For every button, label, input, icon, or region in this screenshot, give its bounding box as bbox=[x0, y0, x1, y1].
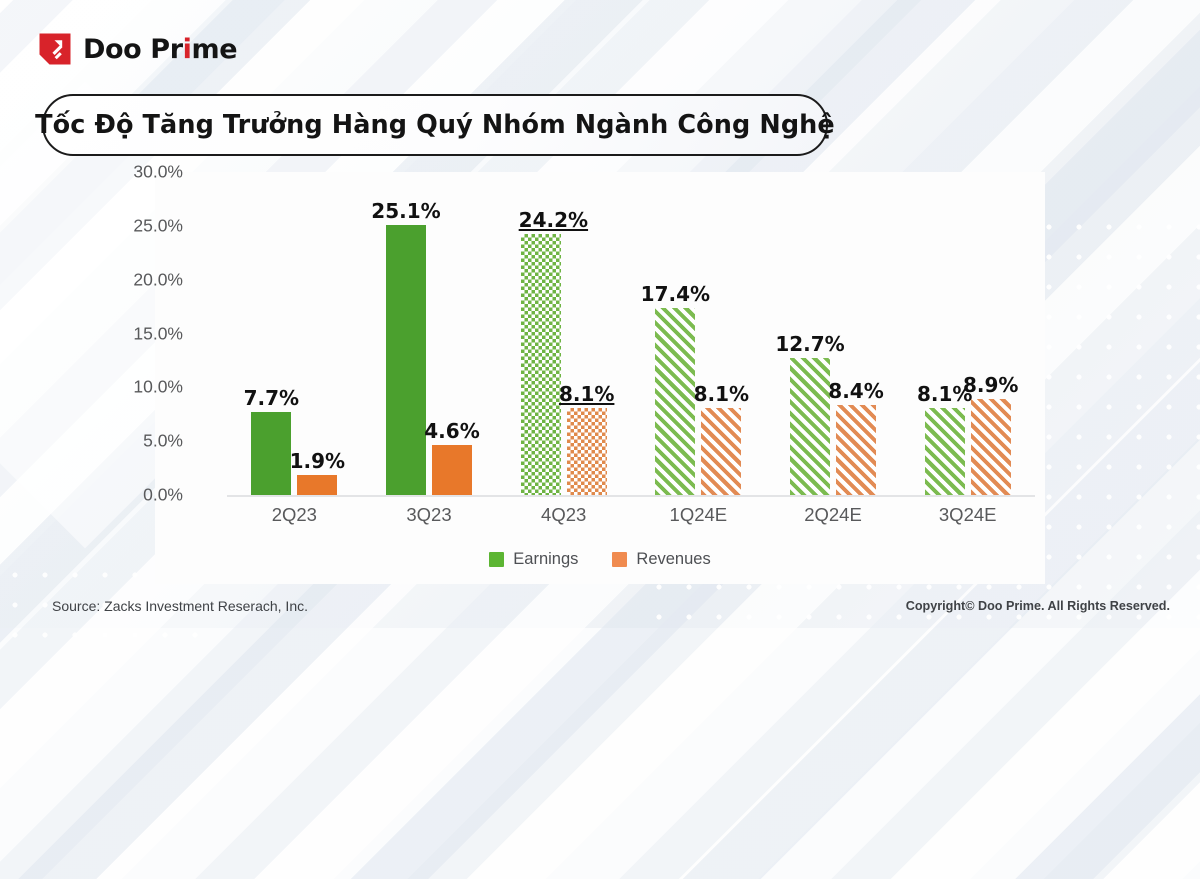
bar-column-earnings[interactable]: 8.1% bbox=[925, 172, 965, 495]
bar[interactable]: 24.2% bbox=[521, 234, 561, 495]
bar-value-label: 8.4% bbox=[828, 381, 883, 402]
bar-column-earnings[interactable]: 7.7% bbox=[251, 172, 291, 495]
bar[interactable]: 25.1% bbox=[386, 225, 426, 495]
brand-logo: Doo Prime bbox=[38, 32, 237, 66]
bar-value-label: 25.1% bbox=[371, 201, 440, 222]
axis-baseline bbox=[227, 495, 1035, 497]
bar-group: 12.7%8.4% bbox=[766, 172, 901, 495]
bar-group: 24.2%8.1% bbox=[496, 172, 631, 495]
chart-panel: 30.0%25.0%20.0%15.0%10.0%5.0%0.0% 7.7%1.… bbox=[155, 172, 1045, 584]
bar[interactable]: 4.6% bbox=[432, 445, 472, 495]
bar[interactable]: 8.1% bbox=[567, 408, 607, 495]
legend-item-revenues[interactable]: Revenues bbox=[612, 550, 710, 569]
bar-value-label: 24.2% bbox=[519, 210, 563, 231]
y-axis-tick-label: 20.0% bbox=[63, 269, 183, 290]
bar-column-revenues[interactable]: 4.6% bbox=[432, 172, 472, 495]
source-note: Source: Zacks Investment Reserach, Inc. bbox=[52, 598, 308, 614]
copyright-note: Copyright© Doo Prime. All Rights Reserve… bbox=[906, 599, 1170, 613]
bar-column-revenues[interactable]: 1.9% bbox=[297, 172, 337, 495]
x-axis-tick-label: 2Q23 bbox=[227, 504, 362, 526]
bar-groups: 7.7%1.9%25.1%4.6%24.2%8.1%17.4%8.1%12.7%… bbox=[227, 172, 1035, 495]
legend-label: Revenues bbox=[636, 550, 710, 569]
y-axis-tick-label: 15.0% bbox=[63, 323, 183, 344]
y-axis-tick-label: 10.0% bbox=[63, 377, 183, 398]
chart-legend: EarningsRevenues bbox=[155, 550, 1045, 569]
brand-name: Doo Prime bbox=[83, 34, 237, 65]
bar-value-label: 8.1% bbox=[694, 384, 749, 405]
y-axis-tick-label: 25.0% bbox=[63, 215, 183, 236]
brand-name-part1: Doo Pr bbox=[83, 34, 183, 65]
bar[interactable]: 8.1% bbox=[701, 408, 741, 495]
bar-column-earnings[interactable]: 24.2% bbox=[521, 172, 561, 495]
bar-column-revenues[interactable]: 8.9% bbox=[971, 172, 1011, 495]
title-pill: Tốc Độ Tăng Trưởng Hàng Quý Nhóm Ngành C… bbox=[42, 94, 828, 156]
bar[interactable]: 8.9% bbox=[971, 399, 1011, 495]
bar[interactable]: 7.7% bbox=[251, 412, 291, 495]
x-axis-tick-label: 3Q23 bbox=[362, 504, 497, 526]
bar-value-label: 1.9% bbox=[290, 451, 345, 472]
legend-swatch-icon bbox=[612, 552, 627, 567]
bar-column-revenues[interactable]: 8.1% bbox=[567, 172, 607, 495]
brand-name-part2: me bbox=[191, 34, 237, 65]
bar-value-label: 7.7% bbox=[244, 388, 299, 409]
bar-group: 7.7%1.9% bbox=[227, 172, 362, 495]
bar-value-label: 12.7% bbox=[775, 334, 844, 355]
bar[interactable]: 1.9% bbox=[297, 475, 337, 495]
bar-value-label: 8.9% bbox=[963, 375, 1018, 396]
bar-column-earnings[interactable]: 17.4% bbox=[655, 172, 695, 495]
bar-value-label: 8.1% bbox=[559, 384, 614, 405]
x-axis-tick-label: 4Q23 bbox=[496, 504, 631, 526]
bar-column-revenues[interactable]: 8.4% bbox=[836, 172, 876, 495]
bar-group: 25.1%4.6% bbox=[362, 172, 497, 495]
y-axis-tick-label: 0.0% bbox=[63, 485, 183, 506]
x-axis: 2Q233Q234Q231Q24E2Q24E3Q24E bbox=[227, 504, 1035, 526]
bar-group: 17.4%8.1% bbox=[631, 172, 766, 495]
infographic-page: Doo Prime Tốc Độ Tăng Trưởng Hàng Quý Nh… bbox=[0, 0, 1200, 628]
y-axis-tick-label: 30.0% bbox=[63, 162, 183, 183]
x-axis-tick-label: 2Q24E bbox=[766, 504, 901, 526]
bar-column-revenues[interactable]: 8.1% bbox=[701, 172, 741, 495]
legend-item-earnings[interactable]: Earnings bbox=[489, 550, 578, 569]
x-axis-tick-label: 3Q24E bbox=[900, 504, 1035, 526]
bar-column-earnings[interactable]: 25.1% bbox=[386, 172, 426, 495]
legend-label: Earnings bbox=[513, 550, 578, 569]
bar-column-earnings[interactable]: 12.7% bbox=[790, 172, 830, 495]
bar-value-label: 17.4% bbox=[641, 284, 710, 305]
plot-area: 30.0%25.0%20.0%15.0%10.0%5.0%0.0% 7.7%1.… bbox=[155, 172, 1045, 502]
doo-prime-logo-icon bbox=[38, 32, 72, 66]
bar[interactable]: 8.4% bbox=[836, 405, 876, 495]
bar-group: 8.1%8.9% bbox=[900, 172, 1035, 495]
bar[interactable]: 17.4% bbox=[655, 308, 695, 495]
legend-swatch-icon bbox=[489, 552, 504, 567]
bar[interactable]: 12.7% bbox=[790, 358, 830, 495]
page-title: Tốc Độ Tăng Trưởng Hàng Quý Nhóm Ngành C… bbox=[35, 110, 835, 140]
bar[interactable]: 8.1% bbox=[925, 408, 965, 495]
x-axis-tick-label: 1Q24E bbox=[631, 504, 766, 526]
bar-value-label: 4.6% bbox=[424, 421, 479, 442]
y-axis-tick-label: 5.0% bbox=[63, 431, 183, 452]
